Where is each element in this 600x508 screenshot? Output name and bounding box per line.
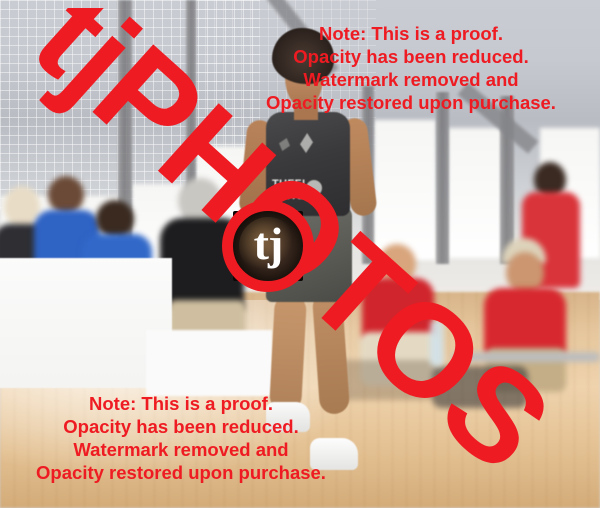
proof-notice-top-line-4: Opacity restored upon purchase. (222, 91, 600, 114)
water-bottle (430, 320, 444, 366)
proof-notice-top: Note: This is a proof. Opacity has been … (222, 22, 600, 114)
proof-notice-bottom: Note: This is a proof. Opacity has been … (0, 392, 362, 484)
spectator-blue-2-head (96, 200, 134, 238)
photo-proof-image: TUFF! ELITE tjPHOTOS tj Note: This is a … (0, 0, 600, 508)
proof-notice-top-line-2: Opacity has been reduced. (222, 45, 600, 68)
official-dark-figure (432, 366, 528, 408)
proof-notice-bottom-line-2: Opacity has been reduced. (0, 415, 362, 438)
tj-logo-badge: tj (222, 200, 314, 292)
window-bright-d (374, 120, 436, 260)
spectator-blue-1-head (48, 176, 84, 214)
tj-badge-logo-text: tj (233, 211, 303, 281)
tj-badge-photo: tj (233, 211, 303, 281)
proof-notice-top-line-3: Watermark removed and (222, 68, 600, 91)
wall-pillar-b (186, 0, 196, 200)
jersey-team-name-line1: TUFF! (272, 178, 344, 190)
proof-notice-bottom-line-3: Watermark removed and (0, 438, 362, 461)
wall-pillar-d (436, 92, 449, 264)
proof-notice-bottom-line-4: Opacity restored upon purchase. (0, 461, 362, 484)
proof-notice-bottom-line-1: Note: This is a proof. (0, 392, 362, 415)
white-barrier-2 (146, 330, 272, 396)
proof-notice-top-line-1: Note: This is a proof. (222, 22, 600, 45)
jersey-team-name: TUFF! ELITE (272, 178, 344, 202)
window-bright-e (448, 128, 502, 258)
coach-bench (452, 352, 600, 362)
coach-polo (484, 288, 566, 356)
player-red-kneeling-body (362, 278, 434, 340)
